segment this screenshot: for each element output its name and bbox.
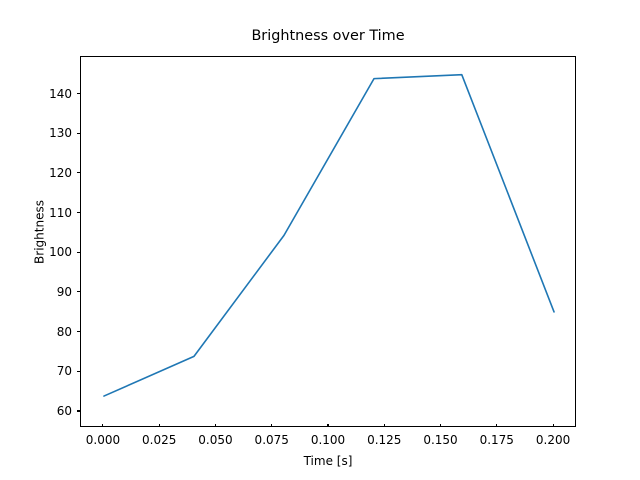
x-tick-label: 0.025 <box>142 432 176 448</box>
y-tick-label: 90 <box>57 283 72 301</box>
x-axis-label: Time [s] <box>80 454 576 468</box>
figure-canvas: Brightness over Time 6070809010011012013… <box>0 0 640 480</box>
y-tick-label: 120 <box>49 164 72 182</box>
x-tick-label: 0.200 <box>536 432 570 448</box>
x-tick-mark <box>384 424 385 428</box>
brightness-line-series <box>104 75 554 396</box>
y-axis: 60708090100110120130140 Brightness <box>0 56 80 427</box>
x-tick-label: 0.125 <box>367 432 401 448</box>
x-tick-mark <box>440 424 441 428</box>
y-tick-label: 70 <box>57 362 72 380</box>
x-tick-mark <box>496 424 497 428</box>
y-tick-label: 110 <box>49 204 72 222</box>
x-tick-mark <box>271 424 272 428</box>
y-tick-label: 100 <box>49 243 72 261</box>
x-tick-mark <box>215 424 216 428</box>
x-tick-label: 0.100 <box>311 432 345 448</box>
x-tick-mark <box>553 424 554 428</box>
plot-area <box>80 56 576 427</box>
y-tick-label: 130 <box>49 124 72 142</box>
x-tick-mark <box>327 424 328 428</box>
x-tick-mark <box>102 424 103 428</box>
x-tick-label: 0.075 <box>255 432 289 448</box>
chart-title: Brightness over Time <box>80 27 576 45</box>
y-tick-label: 80 <box>57 323 72 341</box>
x-tick-mark <box>159 424 160 428</box>
x-tick-label: 0.150 <box>423 432 457 448</box>
x-axis: 0.0000.0250.0500.0750.1000.1250.1500.175… <box>80 427 576 480</box>
y-tick-label: 60 <box>57 402 72 420</box>
x-tick-label: 0.050 <box>198 432 232 448</box>
x-tick-label: 0.175 <box>480 432 514 448</box>
data-line-svg <box>81 57 577 428</box>
y-tick-label: 140 <box>49 85 72 103</box>
x-tick-label: 0.000 <box>86 432 120 448</box>
y-axis-label: Brightness <box>33 47 47 418</box>
